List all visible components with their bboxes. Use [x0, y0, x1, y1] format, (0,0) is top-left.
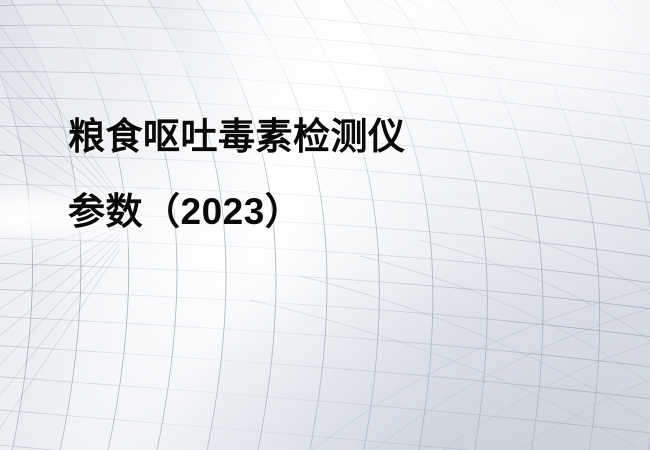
banner-title: 粮食呕吐毒素检测仪 参数（2023） [68, 118, 588, 230]
title-banner: 粮食呕吐毒素检测仪 参数（2023） [0, 0, 650, 450]
title-line-product: 粮食呕吐毒素检测仪 [68, 118, 588, 155]
title-line-parameters-year: 参数（2023） [68, 193, 588, 230]
